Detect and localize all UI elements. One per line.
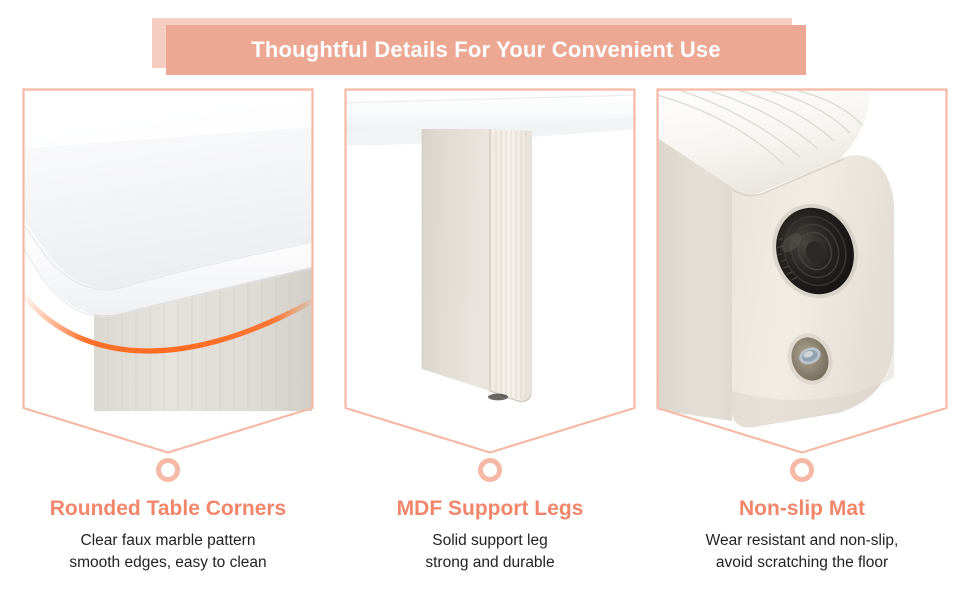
feature-description-line-1: Clear faux marble pattern [22, 530, 314, 552]
feature-description: Solid support leg strong and durable [344, 530, 636, 575]
feature-caption-non-slip-mat: Non-slip Mat Wear resistant and non-slip… [656, 498, 948, 575]
feature-panel-non-slip-mat [656, 88, 948, 488]
feature-title: MDF Support Legs [344, 498, 636, 519]
banner-title: Thoughtful Details For Your Convenient U… [251, 39, 721, 61]
feature-panel-rounded-table-corners [22, 88, 314, 488]
feature-description-line-2: avoid scratching the floor [656, 552, 948, 574]
ring-icon [156, 458, 180, 482]
banner-front-layer: Thoughtful Details For Your Convenient U… [166, 25, 806, 75]
panel-frame-3 [656, 88, 948, 454]
infographic-page: Thoughtful Details For Your Convenient U… [0, 0, 970, 600]
panel-frame-1 [22, 88, 314, 454]
feature-title: Non-slip Mat [656, 498, 948, 519]
feature-description-line-1: Solid support leg [344, 530, 636, 552]
ring-icon [790, 458, 814, 482]
panel-frame-2 [344, 88, 636, 454]
feature-title: Rounded Table Corners [22, 498, 314, 519]
ring-icon [478, 458, 502, 482]
feature-description-line-2: smooth edges, easy to clean [22, 552, 314, 574]
feature-caption-mdf-support-legs: MDF Support Legs Solid support leg stron… [344, 498, 636, 575]
feature-description: Clear faux marble pattern smooth edges, … [22, 530, 314, 575]
feature-description-line-2: strong and durable [344, 552, 636, 574]
feature-description: Wear resistant and non-slip, avoid scrat… [656, 530, 948, 575]
feature-caption-rounded-table-corners: Rounded Table Corners Clear faux marble … [22, 498, 314, 575]
feature-panel-mdf-support-legs [344, 88, 636, 488]
feature-description-line-1: Wear resistant and non-slip, [656, 530, 948, 552]
header-banner: Thoughtful Details For Your Convenient U… [0, 0, 970, 90]
feature-panels [0, 88, 970, 488]
